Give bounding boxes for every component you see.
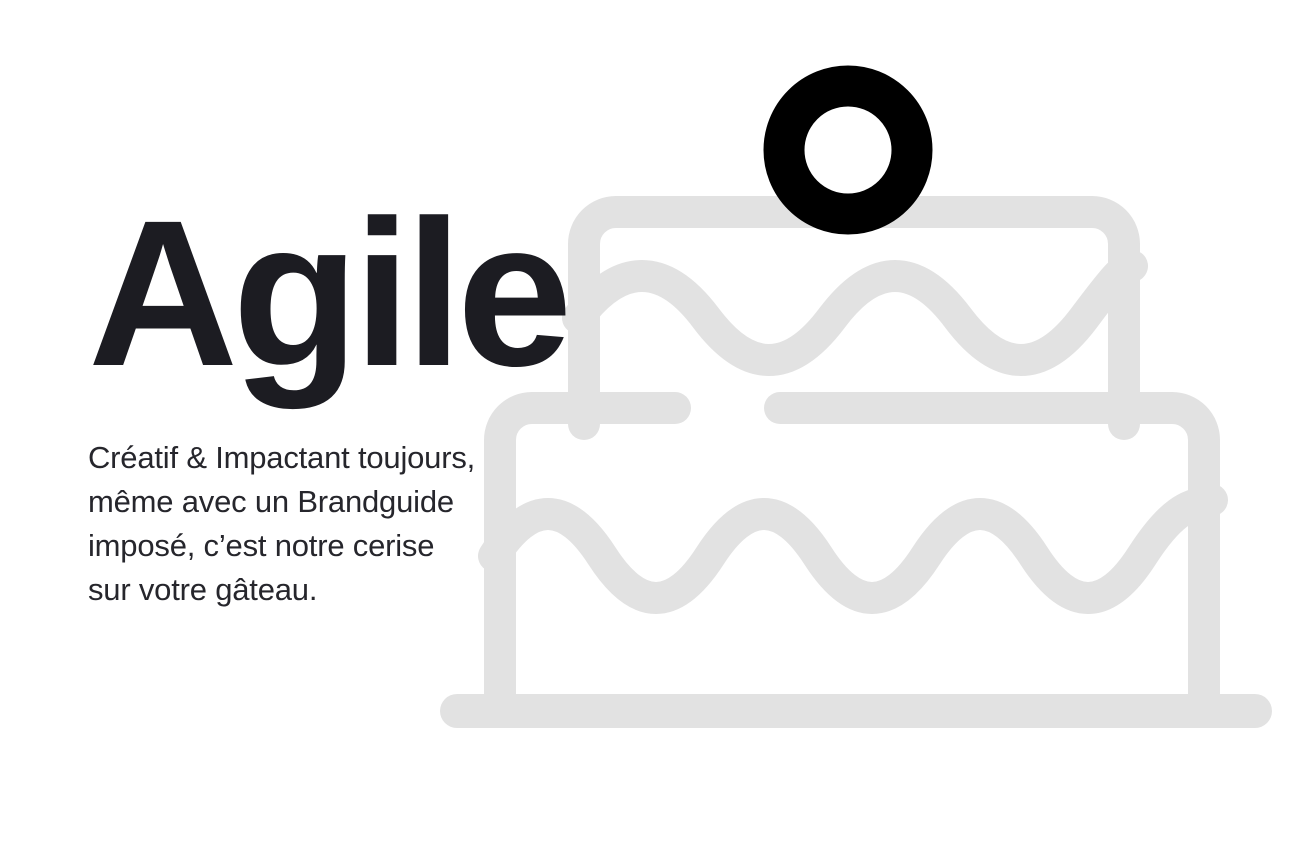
body-copy: Créatif & Impactant toujours, même avec … <box>88 436 728 612</box>
poster-canvas: Agile Créatif & Impactant toujours, même… <box>0 0 1300 861</box>
cake-plate-base <box>440 694 1272 728</box>
cherry-ring-icon <box>784 86 912 214</box>
text-block: Agile Créatif & Impactant toujours, même… <box>88 196 728 612</box>
page-title: Agile <box>88 196 728 392</box>
